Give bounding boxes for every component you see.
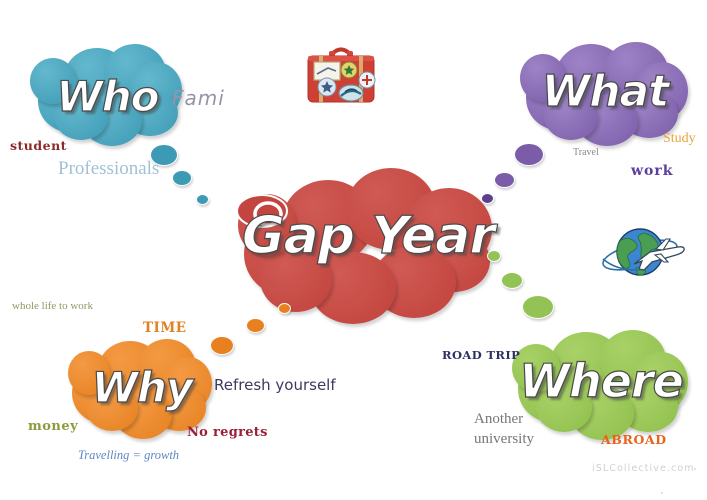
cloud-why[interactable]: Why [68,337,216,439]
word-time: TIME [143,320,187,336]
thought-bubble [501,272,523,289]
word-work: work [631,163,673,179]
thought-bubble [522,295,554,319]
cloud-where[interactable]: Where [512,328,690,440]
word-travelling-growth: Travelling = growth [78,448,179,463]
word-money: money [28,419,78,434]
cloud-gap-year-label: Gap Year [238,206,498,266]
word-student: student [10,138,67,153]
decorative-dot [694,468,696,470]
thought-bubble [196,194,209,205]
red-suitcase-icon [303,42,379,108]
word-road-trip: ROAD TRIP [442,348,520,362]
thought-bubble [246,318,265,333]
thought-bubble [210,336,234,355]
word-whole-life-to-work: whole life to work [12,300,93,312]
word-no-regrets: No regrets [187,425,268,440]
cloud-where-label: Where [512,354,690,408]
thought-bubble [514,143,544,166]
thought-bubble [278,303,291,314]
cloud-who-label: Who [30,72,185,121]
cloud-who[interactable]: Who [30,42,185,147]
thought-bubble [172,170,192,186]
word-university: university [474,429,534,449]
word-another-university: Another university [474,409,534,450]
word-study: Study [663,131,696,147]
mindmap-canvas: Who Fami student Professionals [0,0,707,500]
watermark-islcollective: iSLCollective.com [592,463,695,474]
cloud-why-label: Why [68,363,216,412]
word-travel: Travel [573,147,599,158]
globe-airplane-icon [600,222,688,284]
cloud-what-label: What [520,66,690,117]
word-abroad: ABROAD [601,432,667,447]
word-refresh-yourself: Refresh yourself [214,376,336,394]
word-another: Another [474,409,534,429]
decorative-dot [661,492,663,494]
word-professionals: Professionals [58,158,159,180]
